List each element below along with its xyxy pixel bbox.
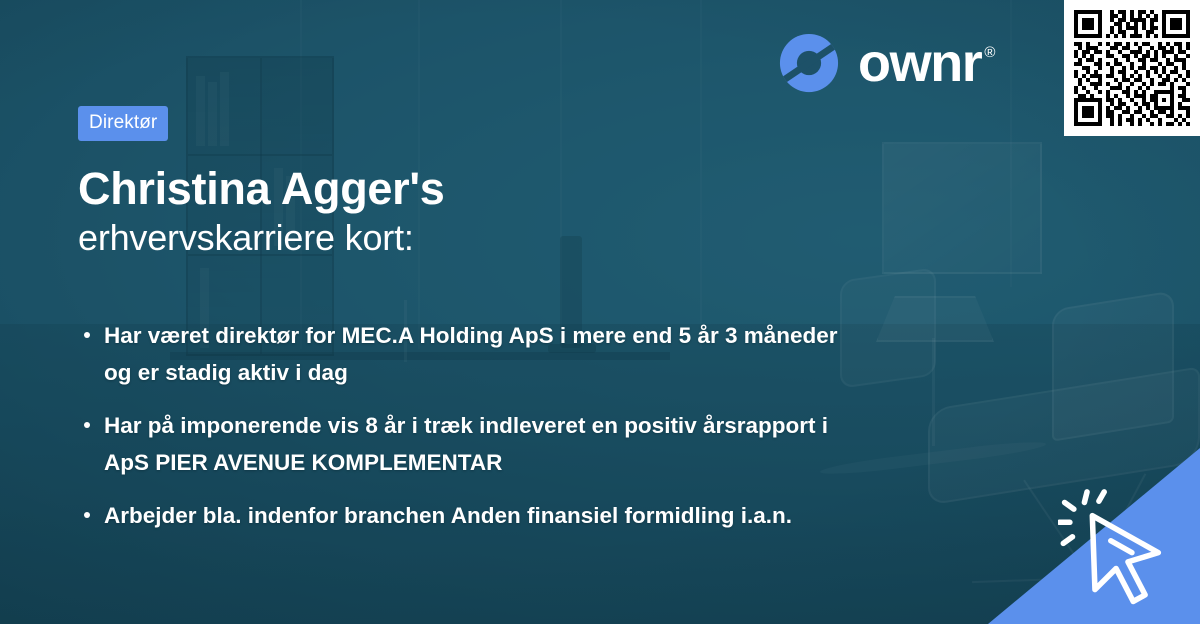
list-item: Har været direktør for MEC.A Holding ApS…: [78, 317, 848, 391]
list-item: Arbejder bla. indenfor branchen Anden fi…: [78, 497, 848, 534]
role-badge: Direktør: [78, 106, 168, 141]
qr-code[interactable]: [1074, 10, 1190, 126]
list-item: Har på imponerende vis 8 år i træk indle…: [78, 407, 848, 481]
ownr-logo: ownr ®: [778, 32, 995, 94]
card-content: Direktør Christina Agger's erhvervskarri…: [78, 106, 878, 550]
ownr-circle-swoosh-logo: [778, 32, 840, 94]
title-subtitle: erhvervskarriere kort:: [78, 215, 878, 260]
registered-trademark-icon: ®: [984, 45, 995, 60]
click-cursor-icon: [1058, 484, 1190, 616]
ownr-wordmark: ownr ®: [858, 39, 995, 88]
ownr-wordmark-text: ownr: [858, 39, 981, 88]
page-title: Christina Agger's erhvervskarriere kort:: [78, 163, 878, 261]
fact-list: Har været direktør for MEC.A Holding ApS…: [78, 317, 878, 535]
qr-code-panel[interactable]: [1064, 0, 1200, 136]
career-card: ownr ®: [0, 0, 1200, 624]
person-name: Christina Agger's: [78, 163, 878, 215]
